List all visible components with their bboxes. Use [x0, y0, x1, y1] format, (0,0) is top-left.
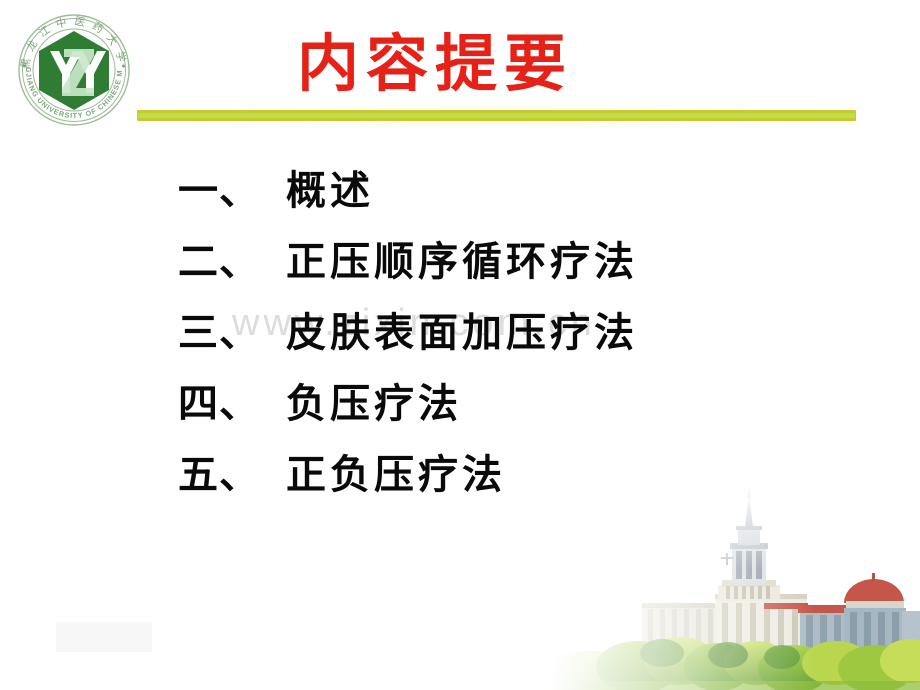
- list-item-label: 皮肤表面加压疗法: [286, 300, 638, 358]
- list-item-number: 四、: [178, 371, 286, 429]
- presentation-slide: 黑龙江中医药大学 HEILONGJIANG UNIVERSITY OF CHIN…: [0, 0, 920, 690]
- page-title: 内容提要: [255, 26, 615, 102]
- seal-icon: 黑龙江中医药大学 HEILONGJIANG UNIVERSITY OF CHIN…: [12, 4, 136, 132]
- university-seal-logo: 黑龙江中医药大学 HEILONGJIANG UNIVERSITY OF CHIN…: [12, 4, 136, 132]
- list-item-number: 二、: [178, 229, 286, 287]
- campus-illustration-icon: [550, 485, 920, 690]
- list-item: 四、 负压疗法: [178, 371, 878, 442]
- list-item: 一、 概述: [178, 158, 878, 229]
- list-item-label: 正负压疗法: [286, 442, 506, 500]
- corner-artifact: [56, 622, 152, 652]
- list-item-number: 三、: [178, 300, 286, 358]
- list-item-label: 负压疗法: [286, 371, 462, 429]
- divider-outer: [137, 110, 856, 121]
- list-item-number: 一、: [178, 158, 286, 216]
- list-item: 三、 皮肤表面加压疗法: [178, 300, 878, 371]
- list-item-label: 概述: [286, 158, 374, 216]
- campus-building-photo: [550, 485, 920, 690]
- title-divider: [137, 110, 856, 121]
- content-outline-list: 一、 概述 二、 正压顺序循环疗法 三、 皮肤表面加压疗法 四、 负压疗法 五、…: [178, 158, 878, 513]
- list-item-label: 正压顺序循环疗法: [286, 229, 638, 287]
- divider-inner: [138, 113, 855, 118]
- list-item-number: 五、: [178, 442, 286, 500]
- list-item: 二、 正压顺序循环疗法: [178, 229, 878, 300]
